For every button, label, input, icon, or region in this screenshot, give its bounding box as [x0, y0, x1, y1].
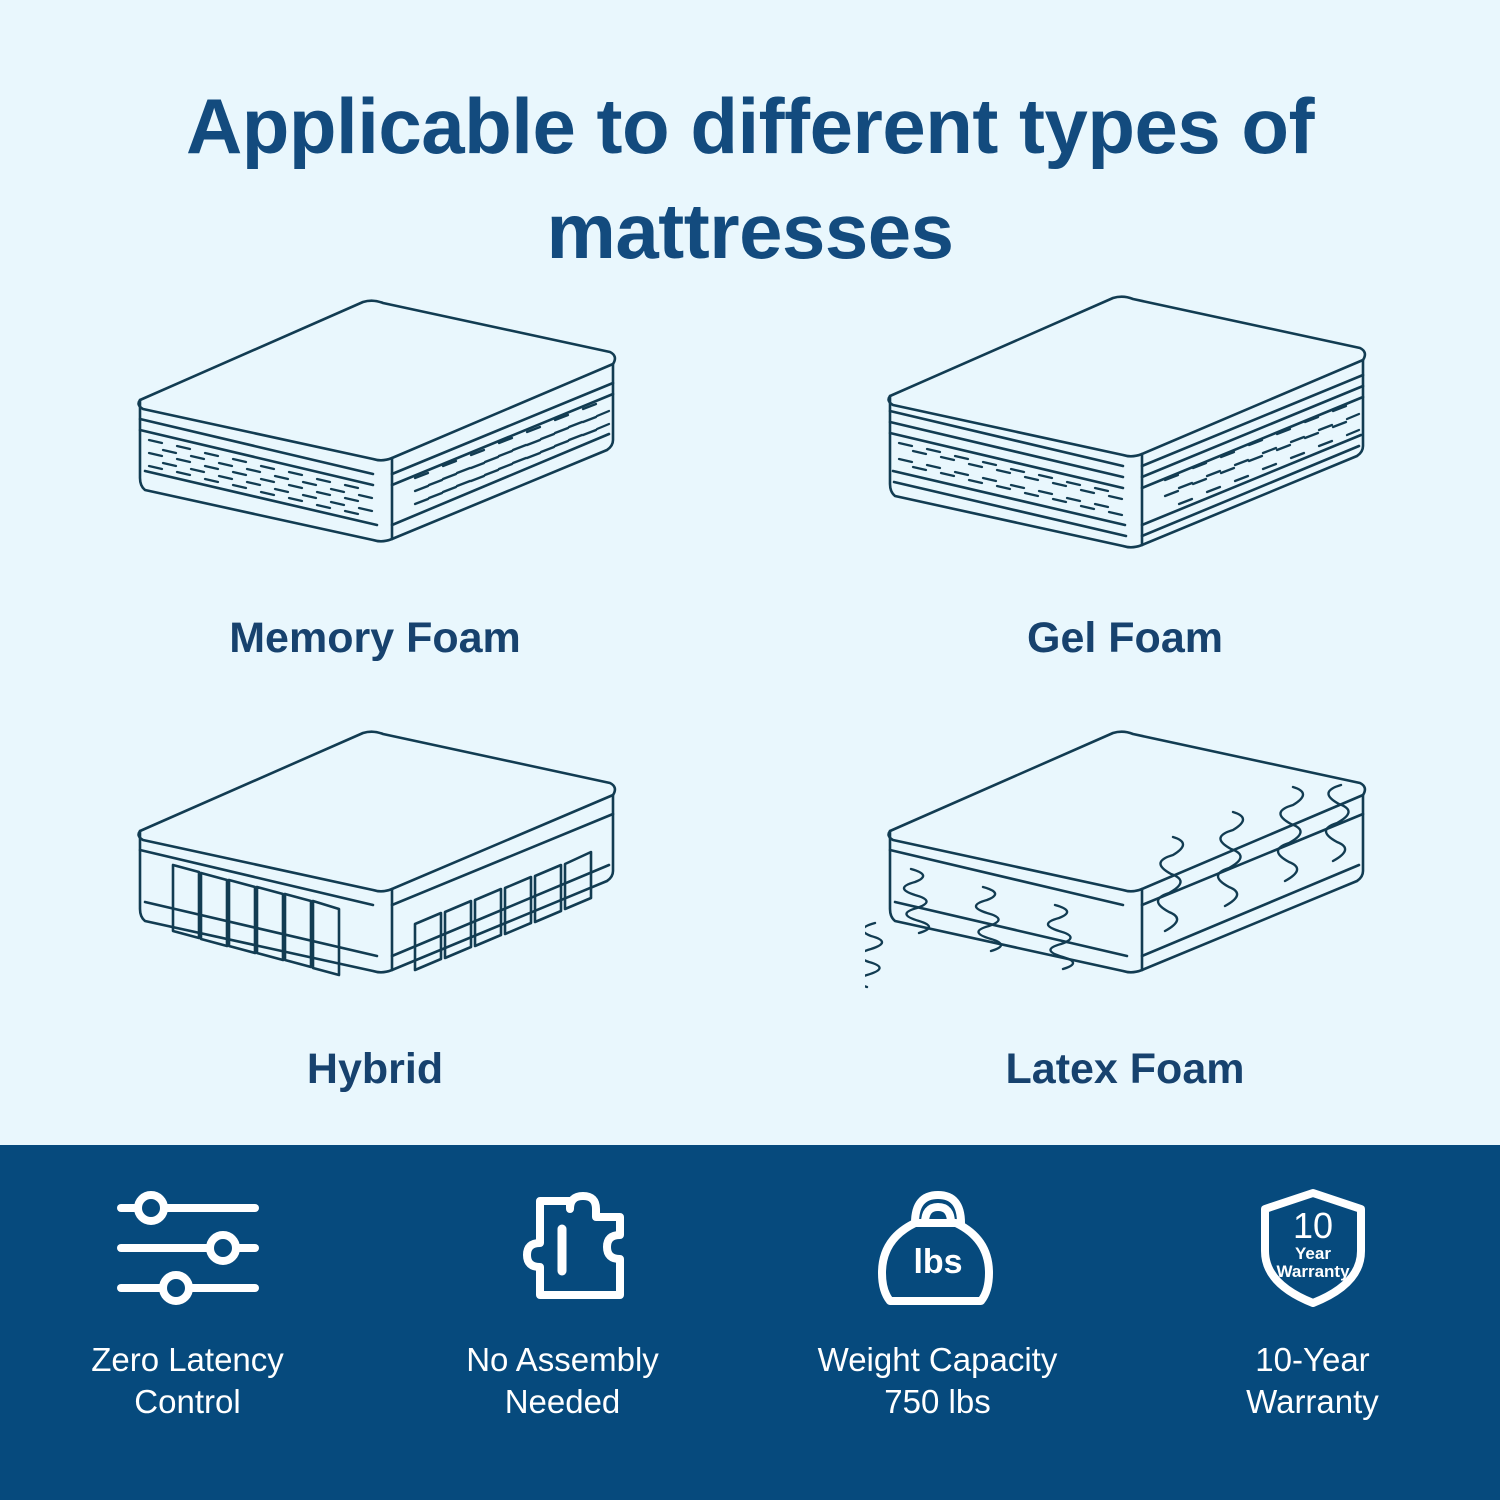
warranty-badge-line3: Warranty	[1276, 1262, 1350, 1281]
feature-label: Zero Latency Control	[91, 1339, 284, 1422]
feature-label: 10-Year Warranty	[1246, 1339, 1379, 1422]
mattress-card-hybrid: Hybrid	[0, 713, 750, 1138]
mattress-card-latex-foam: Latex Foam	[750, 713, 1500, 1138]
feature-no-assembly-needed: No Assembly Needed	[375, 1145, 750, 1422]
sliders-icon	[103, 1183, 273, 1313]
gel-foam-mattress-illustration	[865, 288, 1385, 618]
feature-bar: Zero Latency Control No Assembly Needed …	[0, 1145, 1500, 1500]
mattress-type-grid: Memory Foam	[0, 288, 1500, 1138]
feature-zero-latency-control: Zero Latency Control	[0, 1145, 375, 1422]
title-line-1: Applicable to different types of	[0, 74, 1500, 179]
mattress-label: Memory Foam	[229, 614, 521, 663]
puzzle-piece-icon	[478, 1183, 648, 1313]
mattress-label: Gel Foam	[1027, 614, 1223, 663]
page-title: Applicable to different types of mattres…	[0, 74, 1500, 285]
memory-foam-mattress-illustration	[115, 288, 635, 618]
mattress-card-gel-foam: Gel Foam	[750, 288, 1500, 713]
feature-label: No Assembly Needed	[466, 1339, 659, 1422]
feature-label: Weight Capacity 750 lbs	[818, 1339, 1058, 1422]
infographic-page: Applicable to different types of mattres…	[0, 0, 1500, 1500]
title-line-2: mattresses	[0, 179, 1500, 284]
weight-kettlebell-icon: lbs	[853, 1183, 1023, 1313]
mattress-label: Hybrid	[307, 1045, 443, 1094]
warranty-badge-line2: Year	[1295, 1244, 1331, 1263]
shield-warranty-icon: 10 Year Warranty	[1228, 1183, 1398, 1313]
weight-unit-text: lbs	[913, 1243, 962, 1281]
mattress-card-memory-foam: Memory Foam	[0, 288, 750, 713]
feature-weight-capacity: lbs Weight Capacity 750 lbs	[750, 1145, 1125, 1422]
hybrid-mattress-illustration	[115, 719, 635, 1049]
latex-foam-mattress-illustration	[865, 719, 1385, 1049]
feature-warranty: 10 Year Warranty 10-Year Warranty	[1125, 1145, 1500, 1422]
mattress-label: Latex Foam	[1006, 1045, 1245, 1094]
warranty-badge-number: 10	[1292, 1205, 1332, 1246]
